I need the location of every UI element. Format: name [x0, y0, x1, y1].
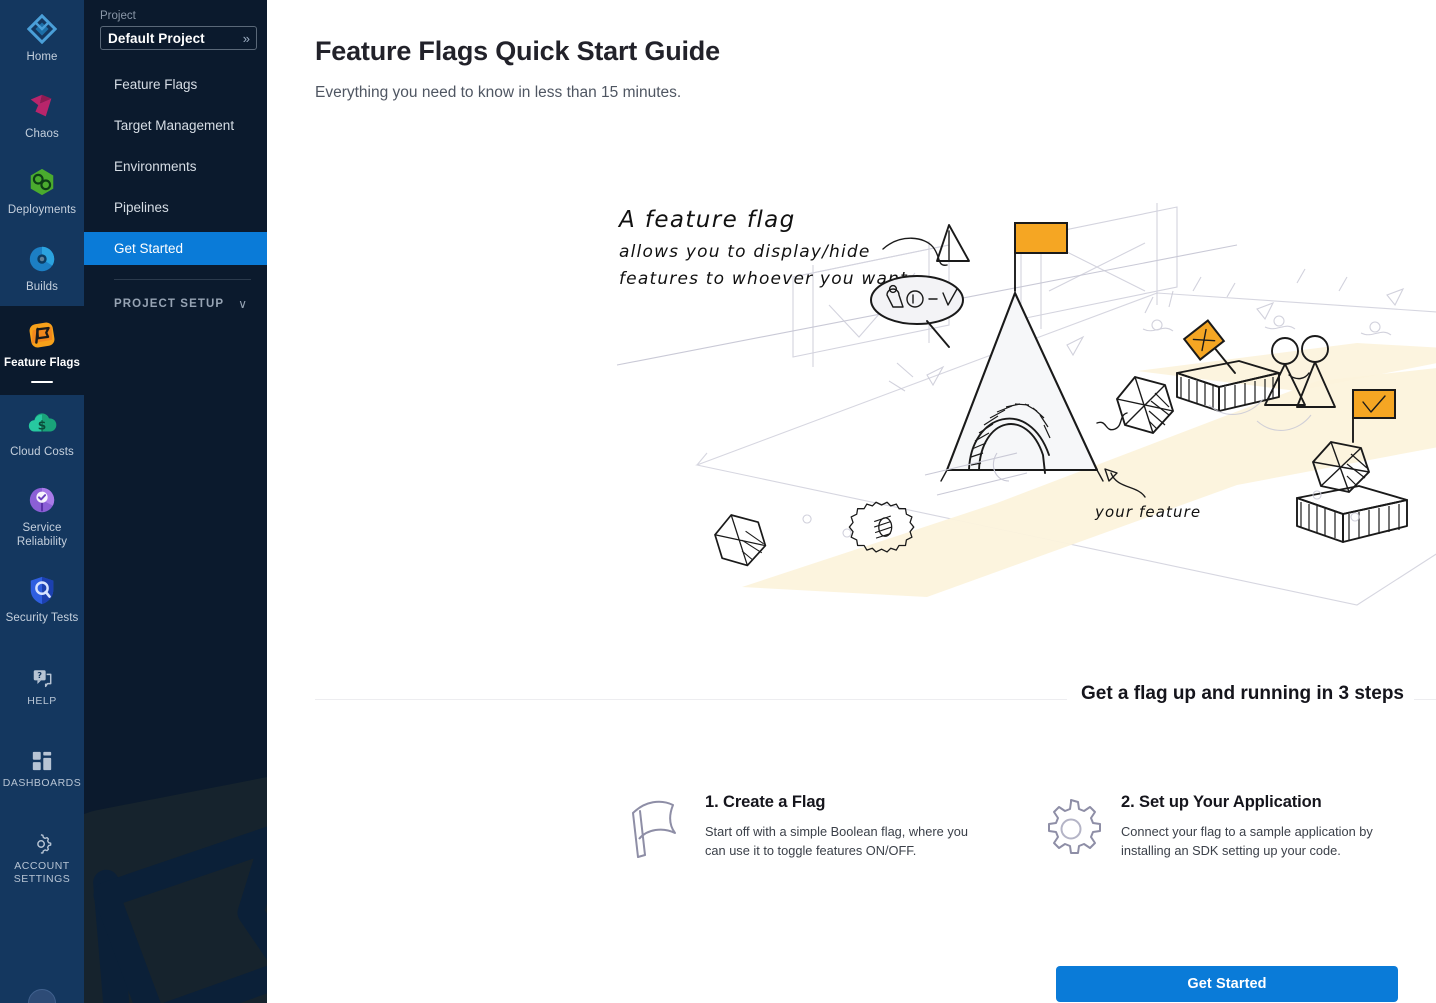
flag-outline-icon [623, 797, 687, 861]
deployments-icon [27, 167, 57, 197]
project-panel: Project Default Project » Feature Flags … [84, 0, 267, 1003]
step-title: 2. Set up Your Application [1121, 793, 1389, 812]
project-selector-value: Default Project [108, 31, 205, 46]
sidebar-item-environments[interactable]: Environments [84, 150, 267, 183]
nav-item-label: HELP [27, 695, 56, 709]
avatar[interactable] [28, 989, 56, 1003]
svg-text:?: ? [37, 670, 42, 680]
nav-item-label: ACCOUNT SETTINGS [2, 860, 82, 887]
sidebar-item-pipelines[interactable]: Pipelines [84, 191, 267, 224]
nav-item-feature-flags[interactable]: Feature Flags [0, 306, 84, 395]
sidebar-item-get-started[interactable]: Get Started [84, 232, 267, 265]
nav-item-label: Chaos [25, 128, 59, 142]
nav-item-label: Builds [26, 281, 58, 295]
sidebar-item-label: Target Management [114, 118, 234, 133]
nav-item-home[interactable]: Home [0, 0, 84, 77]
chevron-down-icon: ∨ [238, 297, 247, 311]
hero-annotation-line2: allows you to display/hide [619, 242, 871, 262]
hero-annotation-line1: A feature flag [617, 207, 796, 233]
sidebar-item-label: Feature Flags [114, 77, 197, 92]
project-setup-label: PROJECT SETUP [114, 298, 224, 310]
chevron-double-right-icon: » [243, 32, 250, 45]
main-nav-rail: Home Chaos Deployments [0, 0, 84, 1003]
project-nav: Feature Flags Target Management Environm… [84, 68, 267, 265]
home-diamond-icon [27, 14, 57, 44]
chaos-icon [27, 91, 57, 121]
step-title: 1. Create a Flag [705, 793, 973, 812]
nav-item-dashboards[interactable]: DASHBOARDS [0, 734, 84, 803]
sidebar-item-label: Environments [114, 159, 197, 174]
nav-item-account-settings[interactable]: ACCOUNT SETTINGS [0, 817, 84, 899]
gear-outline-icon [1039, 797, 1103, 861]
nav-item-label: Feature Flags [4, 357, 80, 371]
sidebar-item-feature-flags[interactable]: Feature Flags [84, 68, 267, 101]
nav-item-builds[interactable]: Builds [0, 230, 84, 307]
nav-item-label: Deployments [8, 204, 76, 218]
sidebar-item-target-management[interactable]: Target Management [84, 109, 267, 142]
gear-icon [31, 833, 53, 855]
nav-item-chaos[interactable]: Chaos [0, 77, 84, 154]
nav-item-label: Home [26, 51, 57, 65]
step-description: Connect your flag to a sample applicatio… [1121, 822, 1389, 860]
nav-item-help[interactable]: ? HELP [0, 652, 84, 721]
nav-item-label: Security Tests [6, 612, 79, 626]
app-root: Home Chaos Deployments [0, 0, 1436, 1003]
step-set-up-your-application: 2. Set up Your Application Connect your … [1039, 793, 1429, 861]
hero-illustration: .ln { fill:none; stroke:#b9b9c6; stroke-… [597, 185, 1436, 625]
section-heading: Get a flag up and running in 3 steps [1067, 683, 1414, 705]
nav-active-underline [31, 381, 53, 383]
main-content: Feature Flags Quick Start Guide Everythi… [267, 0, 1436, 1003]
nav-item-security-tests[interactable]: Security Tests [0, 561, 84, 638]
feature-flags-icon [27, 320, 57, 350]
sidebar-item-label: Pipelines [114, 200, 169, 215]
step-create-a-flag: 1. Create a Flag Start off with a simple… [623, 793, 1013, 861]
security-tests-icon [27, 575, 57, 605]
nav-item-label: Cloud Costs [10, 446, 74, 460]
project-setup-section[interactable]: PROJECT SETUP ∨ [84, 297, 267, 311]
get-started-button[interactable]: Get Started [1056, 966, 1398, 1002]
sidebar-item-label: Get Started [114, 241, 183, 256]
project-selector[interactable]: Default Project » [100, 26, 257, 50]
dashboards-icon [31, 750, 53, 772]
nav-item-label: Service Reliability [2, 522, 82, 549]
cloud-costs-icon: $ [27, 409, 57, 439]
help-icon: ? [31, 668, 53, 690]
hero-annotation-your-feature: your feature [1094, 503, 1201, 521]
project-panel-label: Project [84, 10, 267, 26]
nav-item-label: DASHBOARDS [3, 777, 82, 791]
nav-item-deployments[interactable]: Deployments [0, 153, 84, 230]
sidebar-divider [114, 279, 251, 280]
page-title: Feature Flags Quick Start Guide [315, 36, 720, 67]
nav-item-cloud-costs[interactable]: $ Cloud Costs [0, 395, 84, 472]
service-reliability-icon [27, 485, 57, 515]
feature-flags-watermark-icon [84, 733, 267, 1003]
builds-icon [27, 244, 57, 274]
nav-item-service-reliability[interactable]: Service Reliability [0, 471, 84, 561]
step-description: Start off with a simple Boolean flag, wh… [705, 822, 973, 860]
hero-annotation-line3: features to whoever you want... [619, 269, 928, 289]
svg-text:$: $ [38, 418, 46, 432]
page-subtitle: Everything you need to know in less than… [315, 84, 681, 102]
